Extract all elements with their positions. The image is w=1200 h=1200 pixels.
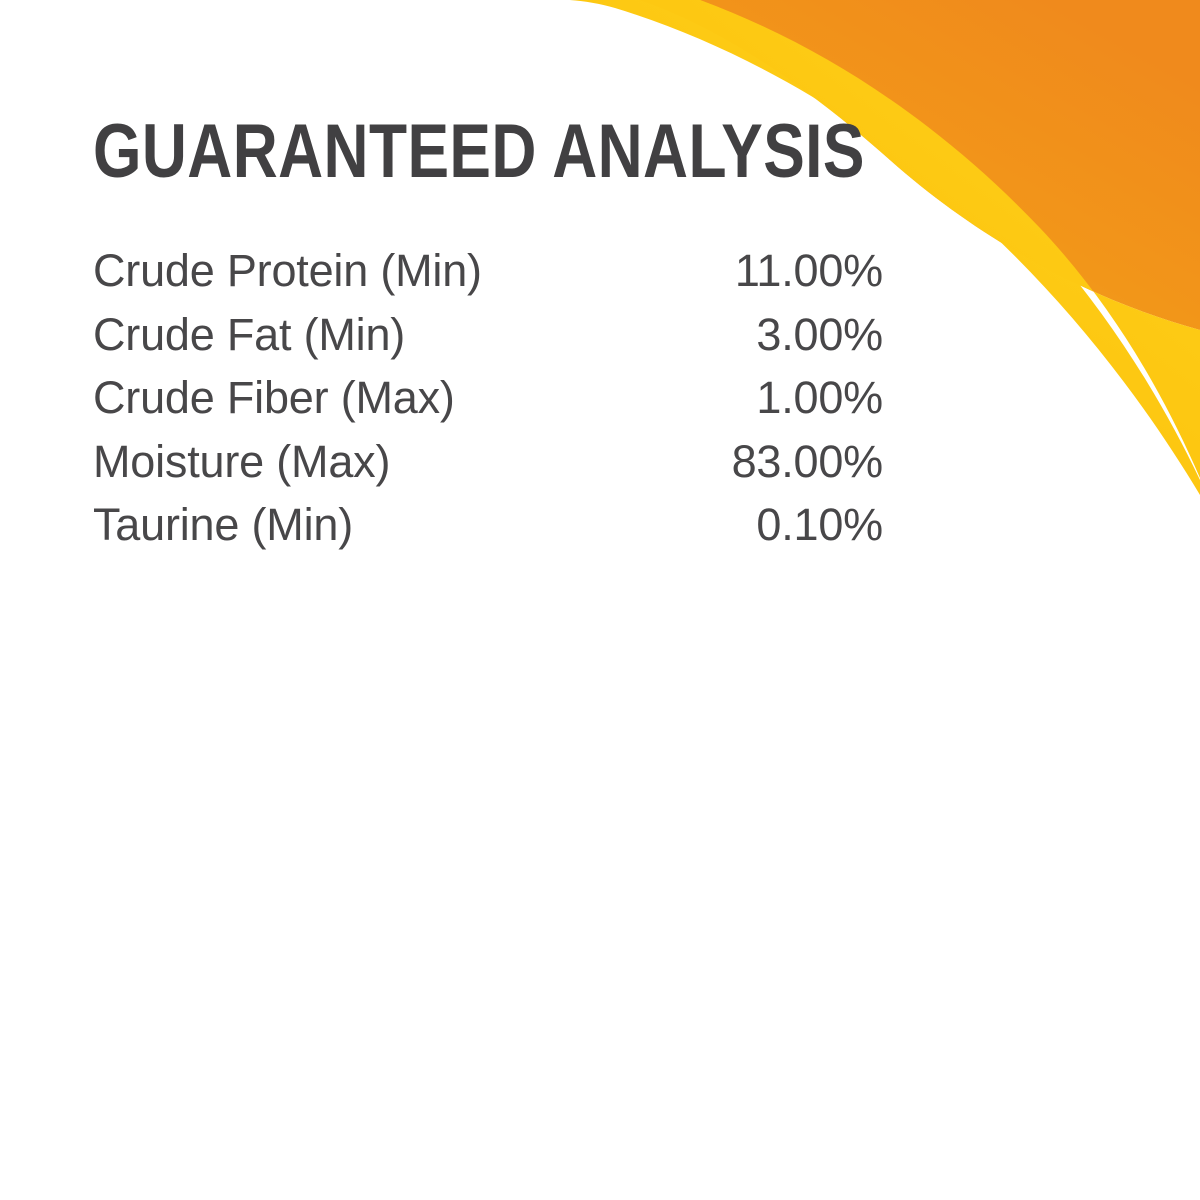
table-row: Crude Fat (Min) 3.00% bbox=[93, 309, 883, 373]
nutrient-label: Crude Protein (Min) bbox=[93, 245, 482, 297]
page-title: GUARANTEED ANALYSIS bbox=[93, 112, 865, 192]
nutrient-value: 11.00% bbox=[735, 245, 883, 297]
table-row: Moisture (Max) 83.00% bbox=[93, 436, 883, 500]
nutrient-label: Crude Fiber (Max) bbox=[93, 372, 455, 424]
nutrient-label: Moisture (Max) bbox=[93, 436, 390, 488]
guaranteed-analysis-table: Crude Protein (Min) 11.00% Crude Fat (Mi… bbox=[93, 245, 883, 563]
nutrient-value: 83.00% bbox=[732, 436, 883, 488]
nutrient-value: 3.00% bbox=[756, 309, 883, 361]
nutrient-value: 0.10% bbox=[756, 499, 883, 551]
nutrient-label: Crude Fat (Min) bbox=[93, 309, 405, 361]
table-row: Crude Fiber (Max) 1.00% bbox=[93, 372, 883, 436]
nutrient-value: 1.00% bbox=[756, 372, 883, 424]
table-row: Crude Protein (Min) 11.00% bbox=[93, 245, 883, 309]
table-row: Taurine (Min) 0.10% bbox=[93, 499, 883, 563]
guaranteed-analysis-panel: GUARANTEED ANALYSIS Crude Protein (Min) … bbox=[0, 0, 1200, 1200]
nutrient-label: Taurine (Min) bbox=[93, 499, 353, 551]
